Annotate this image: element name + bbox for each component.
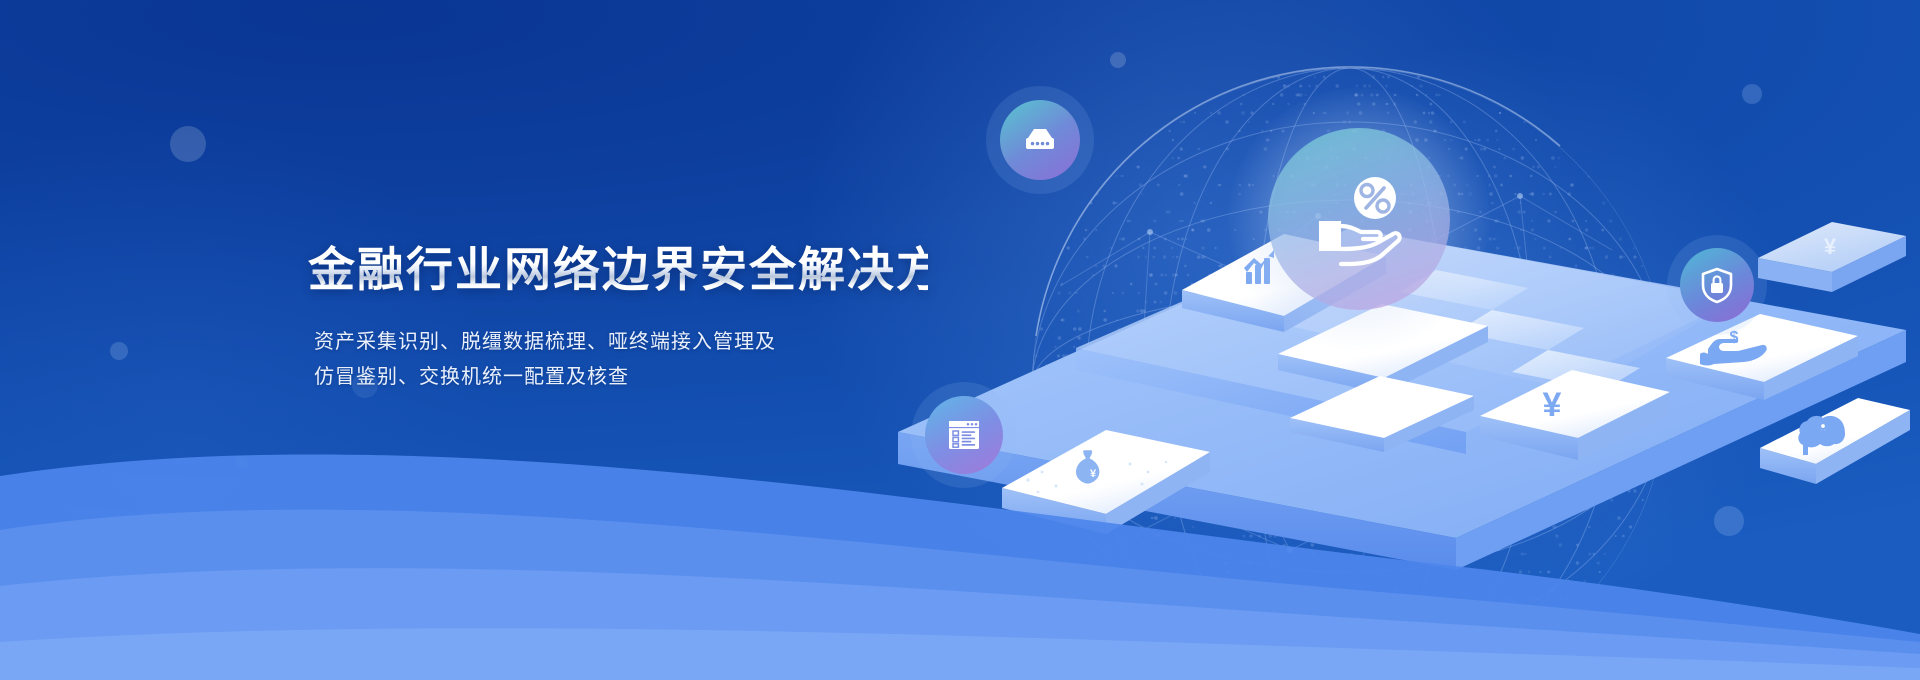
- shield-badge: [1680, 248, 1754, 322]
- router-badge: [1000, 100, 1080, 180]
- bokeh-dot: [170, 126, 206, 162]
- router-icon: [1019, 119, 1061, 161]
- yuan-small-icon: ¥: [1758, 222, 1906, 292]
- page-subtitle: 资产采集识别、脱缰数据梳理、哑终端接入管理及 仿冒鉴别、交换机统一配置及核查: [314, 325, 928, 395]
- page-title: 金融行业网络边界安全解决方案: [308, 242, 928, 297]
- hero-banner: ¥: [0, 0, 1920, 680]
- percent-sphere-badge: [1268, 128, 1450, 310]
- bokeh-dot: [110, 342, 128, 360]
- hero-copy: 金融行业网络边界安全解决方案 资产采集识别、脱缰数据梳理、哑终端接入管理及 仿冒…: [308, 242, 928, 395]
- subtitle-line-1: 资产采集识别、脱缰数据梳理、哑终端接入管理及: [314, 325, 928, 360]
- subtitle-line-2: 仿冒鉴别、交换机统一配置及核查: [314, 360, 928, 395]
- svg-text:¥: ¥: [1824, 234, 1837, 259]
- hand-percent-icon: [1305, 171, 1413, 267]
- shield-lock-icon: [1698, 266, 1736, 304]
- document-list-icon: [943, 414, 985, 456]
